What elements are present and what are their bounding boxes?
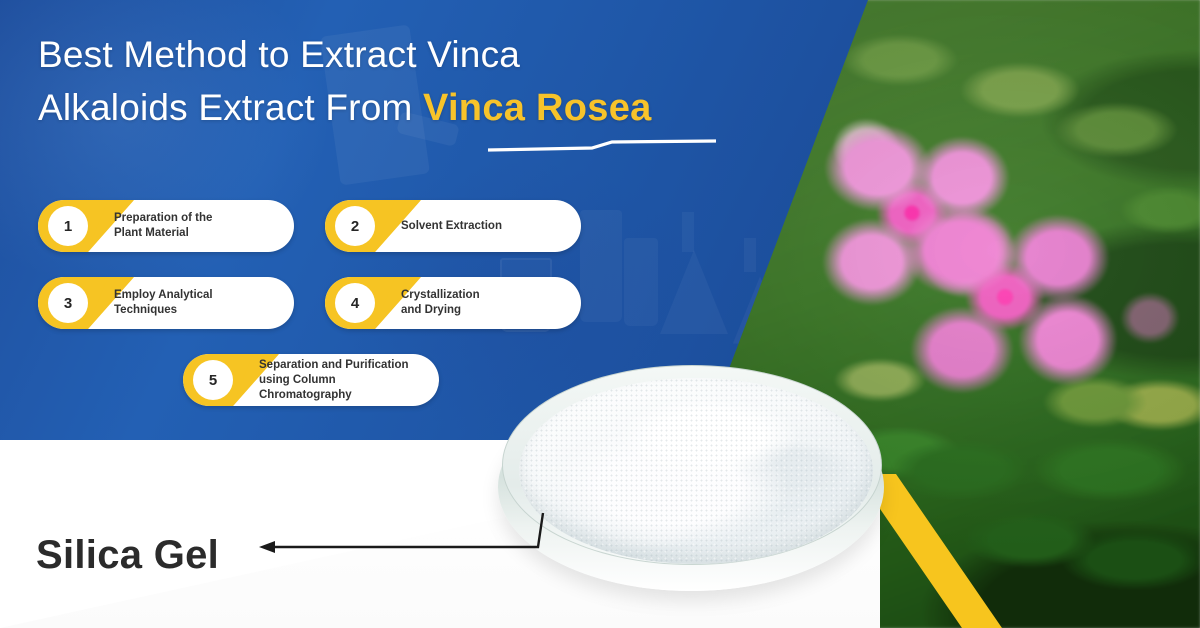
title-line-2: Alkaloids Extract From Vinca Rosea [38, 81, 798, 135]
step-number-badge: 5 [193, 360, 233, 400]
step-pill-3[interactable]: 3 Employ Analytical Techniques [38, 277, 294, 329]
silica-gel-label: Silica Gel [36, 533, 219, 578]
step-pill-4[interactable]: 4 Crystallization and Drying [325, 277, 581, 329]
infographic-banner: Best Method to Extract Vinca Alkaloids E… [0, 0, 1200, 628]
banner-title: Best Method to Extract Vinca Alkaloids E… [38, 28, 798, 135]
callout-leader-arrow-icon [255, 505, 585, 585]
title-highlight: Vinca Rosea [423, 87, 652, 129]
step-number-badge: 4 [335, 283, 375, 323]
step-label-line-1: Separation and Purification [259, 359, 409, 371]
step-label-line-1: Solvent Extraction [401, 220, 502, 232]
step-label: Crystallization and Drying [401, 288, 480, 318]
step-label-line-1: Preparation of the [114, 212, 212, 224]
title-line-2-prefix: Alkaloids Extract From [38, 87, 423, 128]
step-label: Employ Analytical Techniques [114, 288, 213, 318]
bottle-watermark-2 [624, 238, 658, 326]
title-line-1: Best Method to Extract Vinca [38, 28, 798, 81]
flask-neck-watermark-2 [744, 238, 756, 272]
flask-neck-watermark-1 [682, 212, 694, 252]
step-pill-2[interactable]: 2 Solvent Extraction [325, 200, 581, 252]
step-label: Separation and Purification using Column… [259, 358, 425, 403]
step-pill-1[interactable]: 1 Preparation of the Plant Material [38, 200, 294, 252]
step-label-line-1: Crystallization [401, 289, 480, 301]
step-label-line-2: and Drying [401, 304, 461, 316]
step-label: Solvent Extraction [401, 219, 502, 234]
step-label-line-2: Techniques [114, 304, 177, 316]
step-label: Preparation of the Plant Material [114, 211, 212, 241]
step-label-line-1: Employ Analytical [114, 289, 213, 301]
flask-watermark-1 [660, 250, 728, 334]
step-label-line-2: using Column Chromatography [259, 374, 352, 401]
title-underline-icon [488, 137, 716, 153]
step-number-badge: 2 [335, 206, 375, 246]
bottle-watermark-1 [580, 210, 622, 322]
step-number-badge: 1 [48, 206, 88, 246]
step-label-line-2: Plant Material [114, 227, 189, 239]
step-pill-5[interactable]: 5 Separation and Purification using Colu… [183, 354, 439, 406]
step-number-badge: 3 [48, 283, 88, 323]
